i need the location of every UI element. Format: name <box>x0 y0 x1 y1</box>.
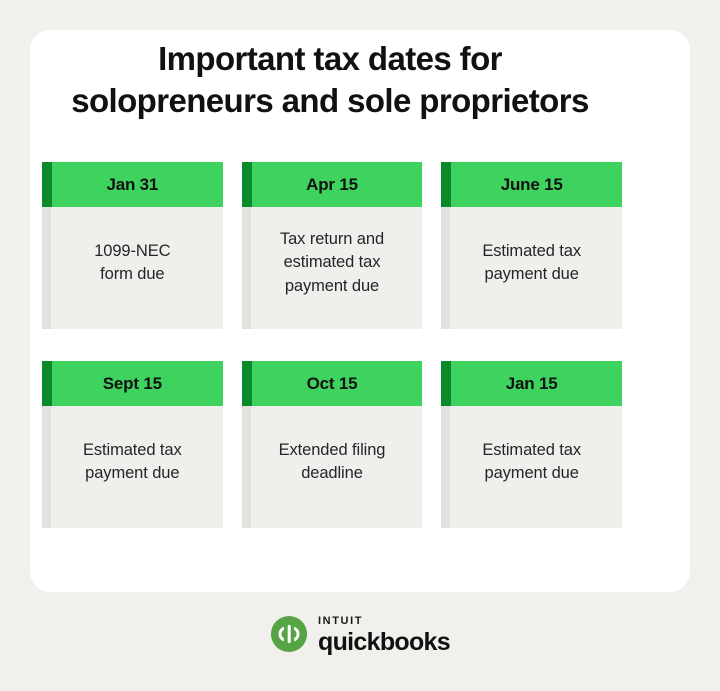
tax-date-card: Sept 15 Estimated tax payment due <box>42 361 223 528</box>
tax-date-card-header: Jan 15 <box>441 361 622 406</box>
tax-date-label: June 15 <box>501 175 563 195</box>
tax-date-label: Jan 31 <box>106 175 158 195</box>
tax-date-description: 1099-NEC form due <box>94 240 170 287</box>
tax-date-card: Oct 15 Extended filing deadline <box>242 361 423 528</box>
brand-wordmark: intuit quickbooks <box>318 612 450 655</box>
tax-date-card-header: Oct 15 <box>242 361 423 406</box>
tax-date-card-body: Estimated tax payment due <box>42 406 223 528</box>
tax-date-card-body: Tax return and estimated tax payment due <box>242 207 423 329</box>
tax-date-card-body: Estimated tax payment due <box>441 406 622 528</box>
tax-date-card: Jan 31 1099-NEC form due <box>42 162 223 329</box>
infographic-root: Important tax dates for solopreneurs and… <box>0 0 720 691</box>
tax-dates-grid: Jan 31 1099-NEC form due Apr 15 Tax retu… <box>42 162 622 528</box>
tax-date-label: Jan 15 <box>506 374 558 394</box>
brand-footer: intuit quickbooks <box>0 612 720 655</box>
tax-date-card-body: 1099-NEC form due <box>42 207 223 329</box>
tax-date-description: Estimated tax payment due <box>482 240 581 287</box>
tax-date-card: June 15 Estimated tax payment due <box>441 162 622 329</box>
quickbooks-logo-icon <box>270 615 308 653</box>
brand-quickbooks-label: quickbooks <box>318 630 450 655</box>
tax-date-label: Apr 15 <box>306 175 358 195</box>
page-title-line-2: solopreneurs and sole proprietors <box>40 80 620 122</box>
tax-date-card-header: Apr 15 <box>242 162 423 207</box>
tax-date-label: Oct 15 <box>307 374 358 394</box>
tax-date-card-body: Estimated tax payment due <box>441 207 622 329</box>
tax-date-description: Estimated tax payment due <box>482 439 581 486</box>
tax-date-description: Extended filing deadline <box>279 439 386 486</box>
tax-date-card: Apr 15 Tax return and estimated tax paym… <box>242 162 423 329</box>
tax-date-card-header: Jan 31 <box>42 162 223 207</box>
brand-intuit-label: intuit <box>318 612 450 627</box>
tax-date-description: Estimated tax payment due <box>83 439 182 486</box>
tax-date-description: Tax return and estimated tax payment due <box>280 228 384 298</box>
tax-date-card-header: Sept 15 <box>42 361 223 406</box>
tax-date-card-header: June 15 <box>441 162 622 207</box>
page-title: Important tax dates for solopreneurs and… <box>40 38 620 122</box>
tax-date-label: Sept 15 <box>103 374 162 394</box>
page-title-line-1: Important tax dates for <box>40 38 620 80</box>
tax-date-card: Jan 15 Estimated tax payment due <box>441 361 622 528</box>
tax-date-card-body: Extended filing deadline <box>242 406 423 528</box>
